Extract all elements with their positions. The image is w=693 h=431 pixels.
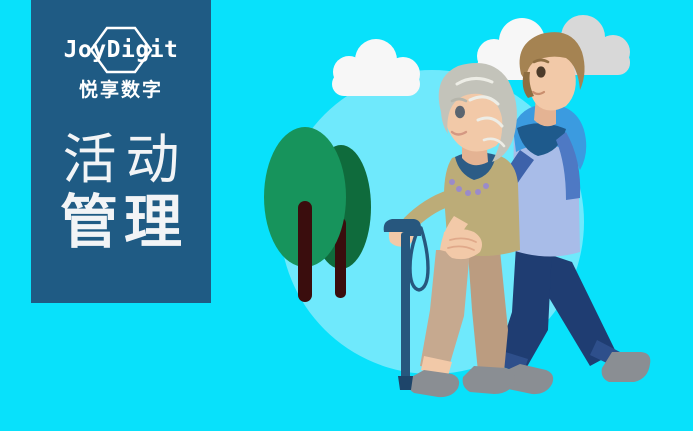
page-title-line-2: 管理 — [54, 192, 188, 252]
young-man-eye — [536, 66, 545, 77]
brand-logo: JoyDigit — [46, 27, 196, 73]
brand-subtitle: 悦享数字 — [79, 75, 163, 102]
elderly-eye — [455, 106, 465, 118]
brand-wordmark: JoyDigit — [64, 37, 179, 63]
cane-shaft — [401, 232, 410, 384]
elderly-back-shoe — [463, 366, 515, 394]
title-panel: JoyDigit 悦享数字 活动 管理 — [31, 0, 211, 303]
cane-tip — [398, 376, 413, 390]
page-title-line-1: 活动 — [54, 132, 189, 188]
poster-canvas: JoyDigit 悦享数字 活动 管理 — [0, 0, 693, 431]
